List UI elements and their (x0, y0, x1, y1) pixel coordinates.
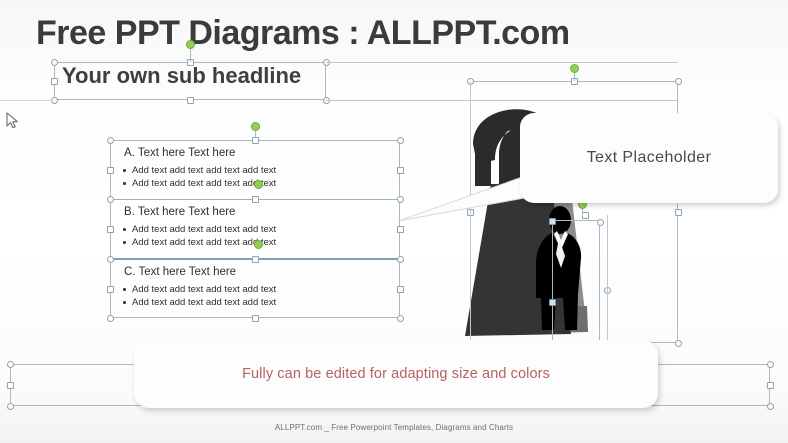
handle-list-tm[interactable] (252, 137, 259, 144)
list-item: Add text add text add text add text (132, 236, 400, 249)
handle-list-mr-a[interactable] (397, 167, 404, 174)
handle-person-bl[interactable] (549, 299, 556, 306)
slide-canvas[interactable]: Free PPT Diagrams : ALLPPT.com Your own … (0, 0, 788, 443)
handle-graphic-tr[interactable] (675, 78, 682, 85)
bubble-text: Text Placeholder (587, 149, 712, 167)
handle-callout-tl[interactable] (7, 361, 14, 368)
rotation-handle-list[interactable] (251, 122, 260, 131)
handle-list-a-bl[interactable] (107, 196, 114, 203)
handle-list-tr[interactable] (397, 137, 404, 144)
handle-subtitle-tl[interactable] (51, 59, 58, 66)
handle-list-b-bm[interactable] (252, 256, 259, 263)
guide-line-keyhole-vertical (470, 81, 471, 343)
handle-callout-br[interactable] (767, 403, 774, 410)
guide-line-person-vertical (607, 215, 608, 343)
handle-list-tl[interactable] (107, 137, 114, 144)
guide-line-subtitle-right (326, 62, 678, 63)
handle-list-b-br[interactable] (397, 256, 404, 263)
list-block-c-bullets: Add text add text add text add text Add … (110, 283, 400, 309)
list-item: Add text add text add text add text (132, 164, 400, 177)
handle-subtitle-bm[interactable] (187, 97, 194, 104)
slide-footer: ALLPPT.com _ Free Powerpoint Templates, … (0, 423, 788, 432)
handle-callout-tr[interactable] (767, 361, 774, 368)
handle-list-mr-b[interactable] (397, 226, 404, 233)
rotation-handle-list-c[interactable] (254, 240, 263, 249)
handle-list-bl[interactable] (107, 315, 114, 322)
handle-list-ml-b[interactable] (107, 226, 114, 233)
handle-callout-bl[interactable] (7, 403, 14, 410)
handle-list-br[interactable] (397, 315, 404, 322)
person-selection-frame[interactable] (552, 220, 600, 342)
handle-graphic-br[interactable] (675, 340, 682, 347)
rotation-handle-subtitle[interactable] (186, 40, 195, 49)
handle-list-a-bm[interactable] (252, 196, 259, 203)
rotation-handle-graphic[interactable] (570, 64, 579, 73)
subtitle-text: Your own sub headline (62, 63, 301, 89)
list-block-c[interactable]: C. Text here Text here Add text add text… (110, 259, 400, 318)
handle-list-ml-c[interactable] (107, 286, 114, 293)
arrow-pointer-icon (6, 112, 20, 130)
handle-person-tr[interactable] (597, 219, 604, 226)
page-title: Free PPT Diagrams : ALLPPT.com (36, 14, 570, 53)
handle-list-bm[interactable] (252, 315, 259, 322)
handle-list-mr-c[interactable] (397, 286, 404, 293)
handle-person-tl[interactable] (549, 218, 556, 225)
callout-text: Fully can be edited for adapting size an… (242, 366, 550, 382)
handle-subtitle-ml[interactable] (51, 78, 58, 85)
handle-list-b-bl[interactable] (107, 256, 114, 263)
list-item: Add text add text add text add text (132, 296, 400, 309)
list-item: Add text add text add text add text (132, 223, 400, 236)
handle-list-ml-a[interactable] (107, 167, 114, 174)
guide-line-subtitle-left (0, 100, 54, 101)
list-block-a[interactable]: A. Text here Text here Add text add text… (110, 140, 400, 199)
handle-callout-mr[interactable] (767, 382, 774, 389)
rotation-handle-list-b[interactable] (254, 180, 263, 189)
list-item: Add text add text add text add text (132, 177, 400, 190)
list-item: Add text add text add text add text (132, 283, 400, 296)
handle-graphic-mr[interactable] (675, 209, 682, 216)
handle-list-a-br[interactable] (397, 196, 404, 203)
handle-callout-ml[interactable] (7, 382, 14, 389)
text-placeholder-bubble[interactable]: Text Placeholder (520, 113, 778, 203)
bottom-callout-box[interactable]: Fully can be edited for adapting size an… (134, 340, 658, 408)
list-block-b[interactable]: B. Text here Text here Add text add text… (110, 199, 400, 259)
